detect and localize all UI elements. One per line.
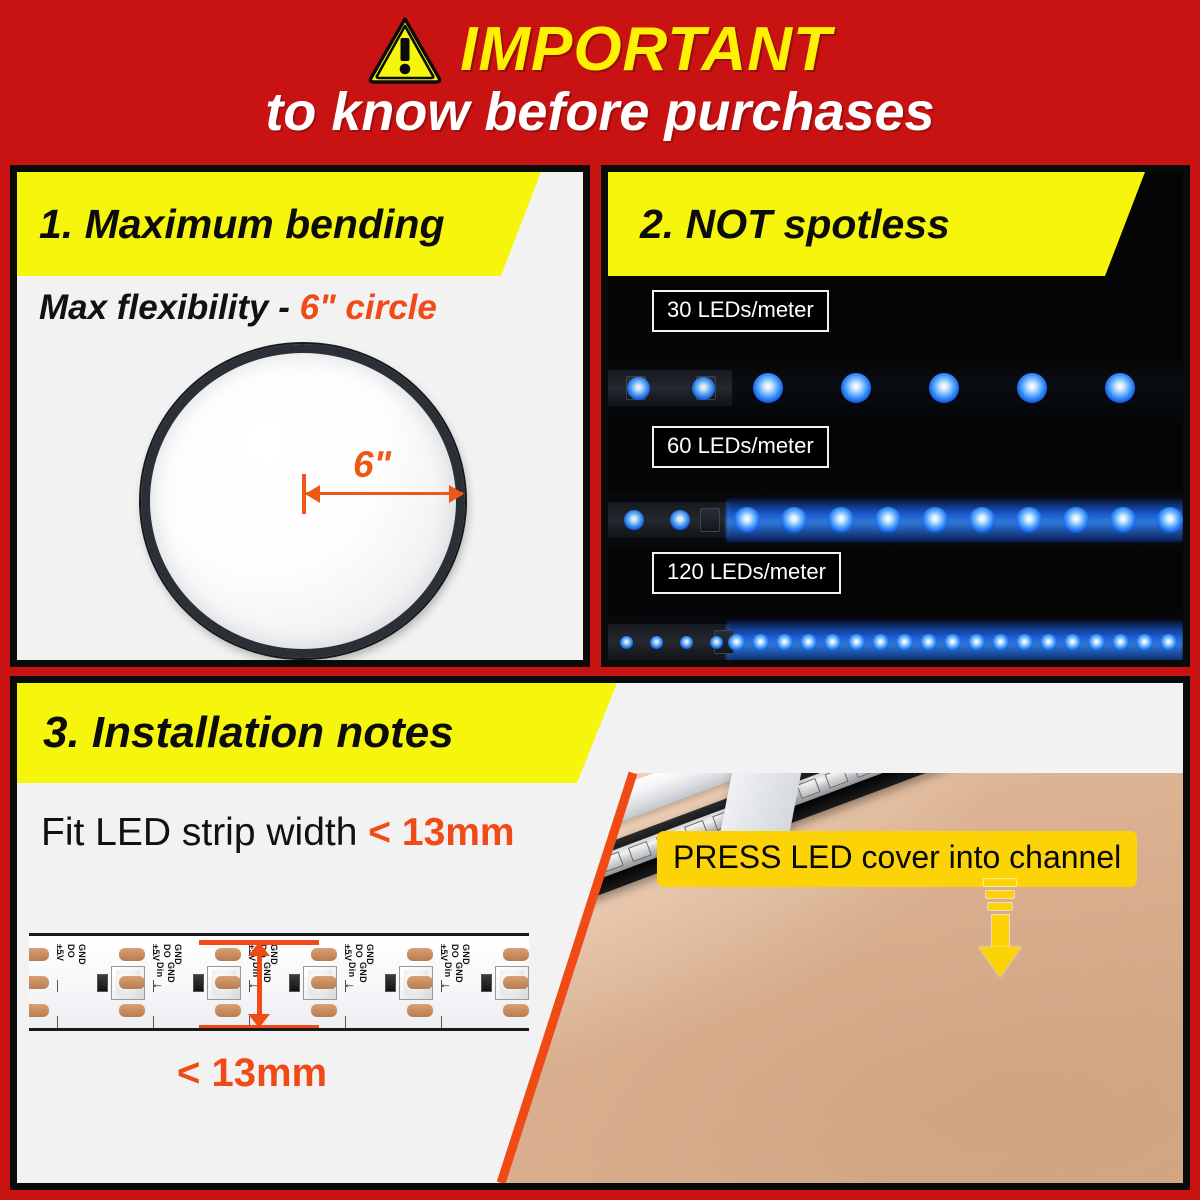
solder-pad bbox=[119, 1004, 145, 1017]
measure-arrow-stem bbox=[257, 950, 262, 1020]
solder-pad bbox=[215, 948, 241, 961]
panel1-subtitle: Max flexibility - 6" circle bbox=[39, 288, 437, 328]
solder-pad bbox=[215, 1004, 241, 1017]
strip-led-dot bbox=[752, 634, 769, 651]
warning-triangle-icon bbox=[368, 16, 442, 84]
pad-label-gnd: GND bbox=[173, 944, 183, 965]
strip-led-dot bbox=[920, 634, 937, 651]
strip-led-dot bbox=[1016, 507, 1042, 533]
cut-mark bbox=[441, 980, 442, 992]
strip-led-dot bbox=[692, 377, 715, 400]
strip-led-dot bbox=[1017, 373, 1047, 403]
panel3-subtitle-accent: < 13mm bbox=[368, 811, 514, 854]
channel-led bbox=[909, 736, 933, 757]
pad-label-gnd: GND bbox=[166, 962, 176, 983]
panel2-banner: 2. NOT spotless bbox=[608, 172, 1145, 276]
pad-label-din: Din bbox=[443, 962, 453, 977]
pad-label-gnd: GND bbox=[365, 944, 375, 965]
pad-label-gnd: GND bbox=[262, 962, 272, 983]
solder-pad bbox=[215, 976, 241, 989]
channel-led bbox=[1049, 683, 1073, 704]
led-strip-30 bbox=[608, 358, 1183, 418]
pad-label-gnd: GND bbox=[269, 944, 279, 965]
width-measure-label: < 13mm bbox=[177, 1051, 327, 1096]
solder-pad bbox=[311, 1004, 337, 1017]
strip-label-120: 120 LEDs/meter bbox=[652, 552, 841, 594]
strip-led-dot bbox=[1040, 634, 1057, 651]
strip-led-dot bbox=[710, 636, 723, 649]
strip-led-dot bbox=[627, 377, 650, 400]
dimension-arrow-left-icon bbox=[305, 485, 320, 503]
strip-led-dot bbox=[624, 510, 644, 530]
panel-maximum-bending: 1. Maximum bending Max flexibility - 6" … bbox=[10, 165, 590, 667]
strip-led-dot bbox=[841, 373, 871, 403]
pad-label-do: DO bbox=[450, 944, 460, 958]
strip-led-dot bbox=[781, 507, 807, 533]
pad-label-gnd: GND bbox=[454, 962, 464, 983]
panel1-subtitle-plain: Max flexibility - bbox=[39, 288, 300, 327]
strip-led-chip bbox=[700, 508, 720, 532]
panel3-banner: 3. Installation notes bbox=[17, 683, 617, 783]
strip-led-dot bbox=[896, 634, 913, 651]
strip-led-dot bbox=[650, 636, 663, 649]
solder-pad bbox=[407, 1004, 433, 1017]
strip-led-dot bbox=[1160, 634, 1177, 651]
channel-led bbox=[1021, 694, 1045, 715]
channel-led bbox=[825, 767, 849, 788]
solder-pad bbox=[503, 948, 529, 961]
dimension-arrow-right-icon bbox=[449, 485, 464, 503]
strip-led-dot bbox=[922, 507, 948, 533]
panel1-title: 1. Maximum bending bbox=[39, 204, 445, 245]
cut-mark bbox=[249, 980, 250, 992]
solder-pad bbox=[407, 976, 433, 989]
cut-mark bbox=[441, 1016, 442, 1028]
channel-led bbox=[937, 725, 961, 746]
strip-led-dot bbox=[824, 634, 841, 651]
panel-installation-notes: 3. Installation notes Fit LED strip widt… bbox=[10, 676, 1190, 1190]
strip-led-dot bbox=[968, 634, 985, 651]
page-title: IMPORTANT bbox=[460, 19, 832, 81]
cut-mark bbox=[345, 1016, 346, 1028]
strip-led-dot bbox=[848, 634, 865, 651]
strip-led-dot bbox=[1157, 507, 1183, 533]
panel3-subtitle-plain: Fit LED strip width bbox=[41, 811, 368, 854]
led-strip-60 bbox=[608, 490, 1183, 550]
cut-mark bbox=[345, 980, 346, 992]
channel-led bbox=[796, 778, 820, 799]
panel1-banner: 1. Maximum bending bbox=[17, 172, 541, 276]
strip-label-60: 60 LEDs/meter bbox=[652, 426, 829, 468]
cut-mark bbox=[57, 1016, 58, 1028]
pad-label-do: DO bbox=[66, 944, 76, 958]
driver-ic bbox=[97, 974, 108, 992]
strip-led-dot bbox=[1136, 634, 1153, 651]
strip-led-dot bbox=[1112, 634, 1129, 651]
solder-pad bbox=[29, 948, 49, 961]
channel-led bbox=[965, 715, 989, 736]
header-title-row: IMPORTANT bbox=[0, 14, 1200, 86]
page-subtitle: to know before purchases bbox=[0, 84, 1200, 141]
bending-circle-diagram: 6" bbox=[135, 340, 475, 662]
strip-led-dot bbox=[929, 373, 959, 403]
cut-mark bbox=[153, 980, 154, 992]
driver-ic bbox=[193, 974, 204, 992]
strip-led-dot bbox=[734, 507, 760, 533]
solder-pad bbox=[119, 948, 145, 961]
pad-label-gnd: GND bbox=[77, 944, 87, 965]
strip-led-dot bbox=[1064, 634, 1081, 651]
strip-led-dot bbox=[1063, 507, 1089, 533]
solder-pad bbox=[119, 976, 145, 989]
pad-label-gnd: GND bbox=[461, 944, 471, 965]
strip-led-dot bbox=[1110, 507, 1136, 533]
dimension-line bbox=[303, 492, 463, 495]
strip-led-dot bbox=[728, 634, 745, 651]
pad-label-do: DO bbox=[354, 944, 364, 958]
strip-led-dot bbox=[776, 634, 793, 651]
strip-led-dot bbox=[872, 634, 889, 651]
solder-pad bbox=[407, 948, 433, 961]
pad-label-din: Din bbox=[155, 962, 165, 977]
strip-led-dot bbox=[828, 507, 854, 533]
strip-led-dot bbox=[1016, 634, 1033, 651]
strip-led-dot bbox=[944, 634, 961, 651]
strip-led-dot bbox=[620, 636, 633, 649]
solder-pad bbox=[503, 1004, 529, 1017]
press-cover-callout: PRESS LED cover into channel bbox=[657, 831, 1137, 887]
panel3-title: 3. Installation notes bbox=[43, 711, 454, 755]
panel2-title: 2. NOT spotless bbox=[640, 204, 950, 245]
arrow-stem bbox=[992, 915, 1009, 949]
strip-led-dot bbox=[875, 507, 901, 533]
cut-mark bbox=[57, 980, 58, 992]
pad-label-din: Din bbox=[347, 962, 357, 977]
driver-ic bbox=[481, 974, 492, 992]
measure-arrow-head-up bbox=[248, 942, 270, 956]
led-strip-120 bbox=[608, 612, 1183, 667]
arrow-dash bbox=[988, 903, 1012, 910]
pad-label-gnd: GND bbox=[358, 962, 368, 983]
channel-led bbox=[1077, 683, 1101, 694]
strip-led-dot bbox=[753, 373, 783, 403]
arrow-dash bbox=[984, 879, 1016, 886]
cut-mark bbox=[153, 1016, 154, 1028]
pad-label-5v: +5V bbox=[343, 944, 353, 961]
arrow-dash bbox=[986, 891, 1014, 898]
dimension-label: 6" bbox=[353, 444, 391, 486]
channel-led bbox=[881, 746, 905, 767]
strip-label-30: 30 LEDs/meter bbox=[652, 290, 829, 332]
solder-pad bbox=[503, 976, 529, 989]
header-banner: IMPORTANT to know before purchases bbox=[0, 0, 1200, 158]
led-strip-pcb-diagram: +5VDOGND←DinGND+5VDOGND←DinGND+5VDOGND←D… bbox=[29, 933, 529, 1031]
channel-led bbox=[993, 704, 1017, 725]
pad-label-5v: +5V bbox=[439, 944, 449, 961]
channel-led bbox=[853, 757, 877, 778]
arrow-head bbox=[979, 947, 1021, 977]
driver-ic bbox=[289, 974, 300, 992]
driver-ic bbox=[385, 974, 396, 992]
panel-not-spotless: 2. NOT spotless 30 LEDs/meter 60 LEDs/me… bbox=[601, 165, 1190, 667]
solder-pad bbox=[29, 1004, 49, 1017]
measure-arrow-head-down bbox=[248, 1014, 270, 1028]
pad-label-do: DO bbox=[162, 944, 172, 958]
panel1-subtitle-accent: 6" circle bbox=[300, 288, 437, 327]
strip-led-dot bbox=[680, 636, 693, 649]
strip-led-dot bbox=[1105, 373, 1135, 403]
solder-pad bbox=[311, 948, 337, 961]
solder-pad bbox=[311, 976, 337, 989]
strip-led-dot bbox=[670, 510, 690, 530]
channel-led bbox=[628, 841, 652, 862]
strip-led-dot bbox=[800, 634, 817, 651]
strip-led-dot bbox=[992, 634, 1009, 651]
pad-label-5v: +5V bbox=[55, 944, 65, 961]
panel3-subtitle: Fit LED strip width < 13mm bbox=[41, 811, 515, 855]
strip-led-dot bbox=[969, 507, 995, 533]
solder-pad bbox=[29, 976, 49, 989]
pad-label-5v: +5V bbox=[151, 944, 161, 961]
strip-led-dot bbox=[1088, 634, 1105, 651]
